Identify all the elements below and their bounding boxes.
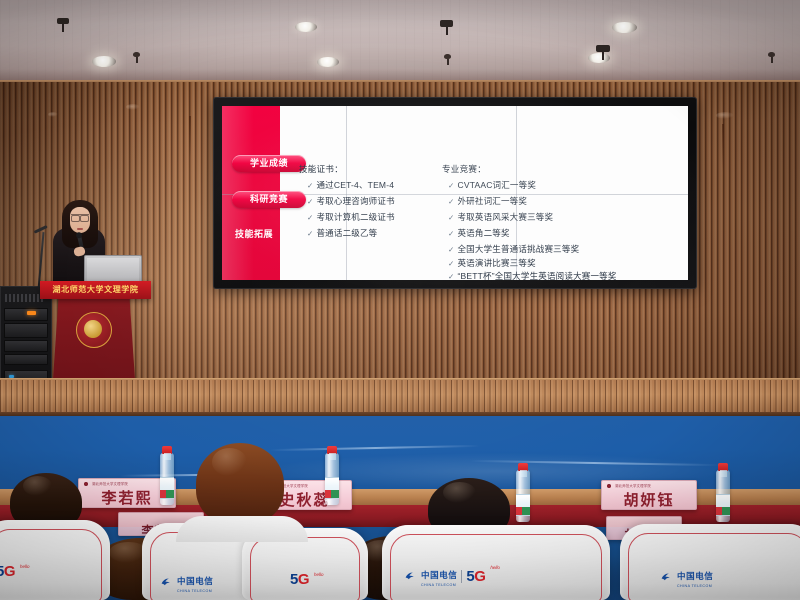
university-emblem-icon [76,312,112,348]
slide-tab-research[interactable]: 科研竞赛 [232,191,306,208]
chair-telecom-logo: 中国电信 CHINA TELECOM [660,566,713,589]
hello-tagline: hello [314,573,324,578]
chair-telecom-logo: 中国电信 CHINA TELECOM 5G hello [404,565,500,588]
slide-tab-skills[interactable]: 技能拓展 [235,227,273,240]
water-bottle [516,470,530,522]
chair-brand-cn: 中国电信 [421,570,457,580]
check-icon: ✓ [448,229,454,238]
wall-mark [48,112,58,117]
hello-tagline: hello [490,566,500,571]
ceiling-shading [0,0,800,84]
check-icon: ✓ [307,181,313,190]
check-icon: ✓ [448,259,454,268]
wall-mark [126,104,140,110]
slide-bullet: ✓考取计算机二级证书 [307,211,395,223]
five-g-accent: G [474,568,485,585]
slide-bullet: ✓英语角二等奖 [448,227,510,239]
five-g-label: 5G [0,564,15,579]
five-g-label: 5G [466,569,485,584]
water-bottle [716,470,730,522]
slide-bullet: ✓全国大学生普通话挑战赛三等奖 [448,243,579,255]
glasses-icon [71,214,89,220]
ceiling-speaker-icon [440,20,453,27]
card-org-line: 湖北师范大学文理学院 [92,481,128,486]
check-icon: ✓ [448,272,454,280]
wainscot-panel [0,380,800,416]
chair-brand-en: CHINA TELECOM [677,585,713,589]
projection-screen[interactable]: 学业成绩 科研竞赛 技能拓展 技能证书： ✓通过CET-4、TEM-4 ✓考取心… [213,97,697,289]
slide-bullet: ✓普通话二级乙等 [307,227,377,239]
wall-mark [716,112,734,119]
audience-chair[interactable]: 中国电信 CHINA TELECOM 5G hello [382,525,610,600]
hello-tagline: hello [20,565,30,570]
chair-brand-cn: 中国电信 [177,576,213,586]
name-card: 湖北师范大学文理学院 胡妍钰 [601,480,697,510]
wall-streak [189,116,191,158]
ceiling-downlight [92,56,116,67]
slide-tab-academic[interactable]: 学业成绩 [232,155,306,172]
card-name: 胡妍钰 [602,489,696,510]
audience-chair[interactable]: 5G hello [0,520,110,600]
check-icon: ✓ [307,213,313,222]
logo-divider [461,570,462,583]
check-icon: ✓ [448,213,454,222]
speaker-mouth [77,228,83,230]
china-telecom-icon [160,576,173,589]
audience-chair[interactable]: 中国电信 CHINA TELECOM [620,524,800,600]
chair-brand-cn: 中国电信 [677,571,713,581]
ceiling-downlight [295,22,317,32]
audience-shoulders [176,516,308,542]
card-org-line: 湖北师范大学文理学院 [615,483,651,488]
water-bottle [160,453,174,505]
lectern-banner: 湖北师范大学文理学院 [40,281,151,299]
chair-brand-en: CHINA TELECOM [177,590,213,594]
check-icon: ✓ [307,229,313,238]
five-g-label: 5G [290,572,309,587]
slide-bullet: ✓“BETT杯”全国大学生英语阅读大赛一等奖 [448,270,617,280]
water-bottle [325,453,339,505]
five-g-accent: G [298,571,309,588]
card-logo-icon [607,484,611,488]
china-telecom-icon [404,570,417,583]
chair-5g-logo: 5G hello [290,572,324,587]
sprinkler-icon [768,52,775,57]
sprinkler-icon [133,52,140,57]
slide-bullet: ✓英语演讲比赛三等奖 [448,257,536,269]
check-icon: ✓ [448,245,454,254]
china-telecom-icon [660,571,673,584]
check-icon: ✓ [448,197,454,206]
slide-bullet: ✓CVTAAC词汇一等奖 [448,179,536,191]
ceiling-speaker-icon [57,18,69,24]
five-g-accent: G [4,563,15,580]
slide-bullet: ✓考取英语风采大赛三等奖 [448,211,553,223]
chair-telecom-logo: 中国电信 CHINA TELECOM [160,571,213,594]
chair-5g-logo: 5G hello [0,564,30,579]
card-logo-icon [84,482,88,486]
lecture-hall-photo: 学业成绩 科研竞赛 技能拓展 技能证书： ✓通过CET-4、TEM-4 ✓考取心… [0,0,800,600]
ceiling-downlight [317,57,339,67]
slide-bullet: ✓考取心理咨询师证书 [307,195,395,207]
ceiling-speaker-icon [596,45,610,52]
check-icon: ✓ [307,197,313,206]
slide-bullet: ✓通过CET-4、TEM-4 [307,179,394,191]
ceiling-downlight [588,53,610,63]
chair-brand-en: CHINA TELECOM [421,584,457,588]
slide-column-heading-certificates: 技能证书： [299,163,343,175]
sprinkler-icon [444,54,451,59]
audience-head [196,443,284,525]
wall-streak [722,124,724,172]
slide-bullet: ✓外研社词汇一等奖 [448,195,527,207]
check-icon: ✓ [448,181,454,190]
slide-column-heading-competitions: 专业竞赛： [442,163,486,175]
ceiling-downlight [612,22,637,33]
slide-canvas: 学业成绩 科研竞赛 技能拓展 技能证书： ✓通过CET-4、TEM-4 ✓考取心… [222,106,688,280]
